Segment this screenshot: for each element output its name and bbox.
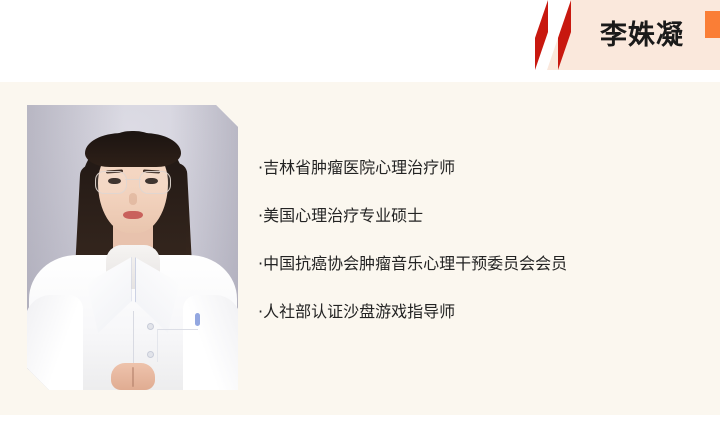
lens-left xyxy=(95,171,127,194)
hand-divider xyxy=(132,367,134,387)
slide-canvas: 李姝凝 xyxy=(0,0,720,430)
red-slash-icon xyxy=(535,0,548,70)
speaker-name: 李姝凝 xyxy=(600,0,684,70)
hair-fringe xyxy=(85,133,181,167)
lips xyxy=(123,211,143,219)
credential-item: ·美国心理治疗专业硕士 xyxy=(258,208,688,224)
credentials-list: ·吉林省肿瘤医院心理治疗师 ·美国心理治疗专业硕士 ·中国抗癌协会肿瘤音乐心理干… xyxy=(258,160,688,320)
red-slash-icon xyxy=(558,0,571,70)
credential-item: ·中国抗癌协会肿瘤音乐心理干预委员会会员 xyxy=(258,256,688,272)
content-panel: ·吉林省肿瘤医院心理治疗师 ·美国心理治疗专业硕士 ·中国抗癌协会肿瘤音乐心理干… xyxy=(0,82,720,415)
eyeglasses-icon xyxy=(95,171,171,193)
coat-button xyxy=(147,351,154,358)
arm-left xyxy=(27,295,83,390)
orange-accent-tab xyxy=(705,11,720,38)
coat-badge xyxy=(195,313,200,326)
credential-item: ·吉林省肿瘤医院心理治疗师 xyxy=(258,160,688,176)
nose xyxy=(129,193,137,205)
coat-pocket xyxy=(157,329,198,362)
coat-button xyxy=(147,323,154,330)
credential-item: ·人社部认证沙盘游戏指导师 xyxy=(258,304,688,320)
glasses-bridge xyxy=(125,179,141,180)
lens-right xyxy=(139,171,171,194)
speaker-portrait xyxy=(27,105,238,390)
